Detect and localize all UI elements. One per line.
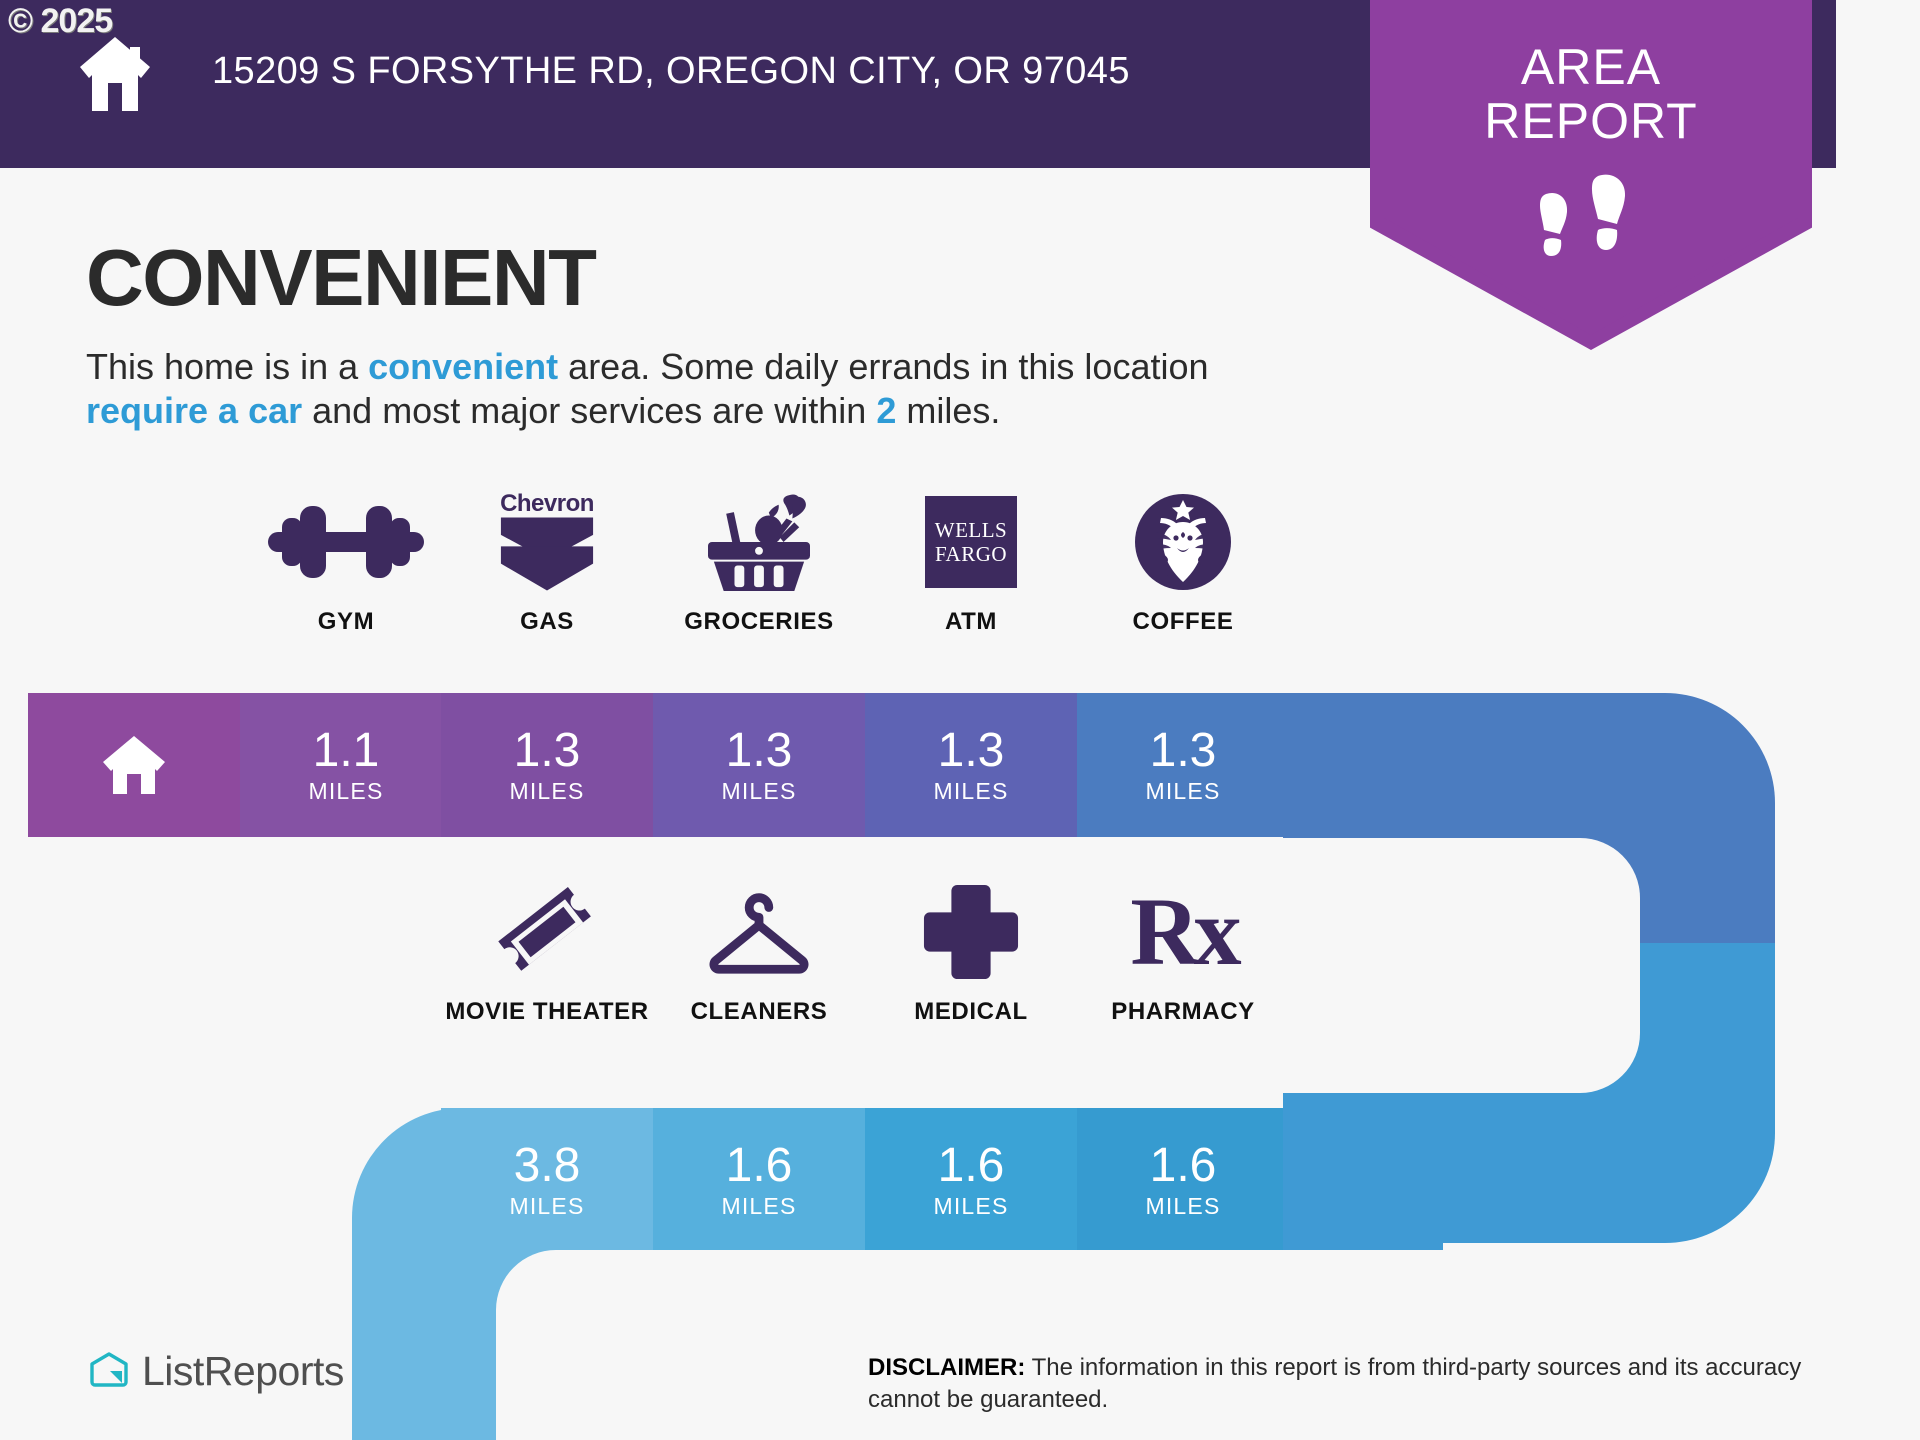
track-cell-gym: 1.1 MILES [240,693,452,837]
track-cell-pharmacy: 1.6 MILES [1077,1108,1289,1252]
disclaimer-label: DISCLAIMER: [868,1354,1025,1381]
distance-value: 1.3 [938,726,1005,776]
distance-value: 1.3 [726,726,793,776]
distance-unit: MILES [721,778,796,805]
amenity-icon-medical: MEDICAL [865,880,1077,1026]
track-origin-cell [28,693,240,837]
disclaimer: DISCLAIMER: The information in this repo… [868,1352,1878,1416]
listreports-wordmark: ListReports [142,1348,344,1395]
distance-unit: MILES [933,1193,1008,1220]
track-cell-cleaners: 1.6 MILES [653,1108,865,1252]
distance-unit: MILES [1145,778,1220,805]
distance-value: 1.3 [1150,726,1217,776]
amenity-label: MEDICAL [914,998,1028,1026]
listreports-house-icon [88,1351,130,1393]
track-cell-gas: 1.3 MILES [441,693,653,837]
footprints-icon [1536,170,1646,260]
listreports-logo[interactable]: ListReports [88,1348,344,1395]
track-tail [1283,1108,1443,1250]
area-report-page: © 2025 15209 S FORSYTHE RD, OREGON CITY,… [0,0,1920,1440]
distance-unit: MILES [933,778,1008,805]
rx-pharmacy-icon: Rx [1130,880,1235,984]
distance-value: 3.8 [514,1141,581,1191]
amenity-icon-pharmacy: Rx PHARMACY [1077,880,1289,1026]
distance-value: 1.3 [514,726,581,776]
amenity-icon-movie-theater: MOVIE THEATER [441,880,653,1026]
badge-title: AREA REPORT [1370,40,1812,148]
amenity-label: MOVIE THEATER [445,998,648,1026]
track-cell-coffee: 1.3 MILES [1077,693,1289,837]
clothes-hanger-icon [700,880,818,984]
distance-unit: MILES [308,778,383,805]
badge-title-line1: AREA [1370,40,1812,94]
home-icon [101,734,167,796]
distance-value: 1.6 [938,1141,1005,1191]
badge-title-line2: REPORT [1370,94,1812,148]
rx-wordmark: Rx [1130,884,1235,980]
medical-cross-icon [922,880,1020,984]
distance-value: 1.1 [313,726,380,776]
distance-value: 1.6 [726,1141,793,1191]
track-cell-groceries: 1.3 MILES [653,693,865,837]
distance-value: 1.6 [1150,1141,1217,1191]
distance-unit: MILES [509,1193,584,1220]
distance-unit: MILES [1145,1193,1220,1220]
distance-unit: MILES [721,1193,796,1220]
amenity-icon-cleaners: CLEANERS [653,880,865,1026]
track-cell-medical: 1.6 MILES [865,1108,1077,1252]
track-cell-atm: 1.3 MILES [865,693,1077,837]
track-cell-movie-theater: 3.8 MILES [441,1108,653,1252]
amenity-label: PHARMACY [1111,998,1254,1026]
movie-ticket-icon [493,880,601,984]
distance-unit: MILES [509,778,584,805]
copyright-label: © 2025 [8,2,112,41]
amenity-label: CLEANERS [691,998,828,1026]
